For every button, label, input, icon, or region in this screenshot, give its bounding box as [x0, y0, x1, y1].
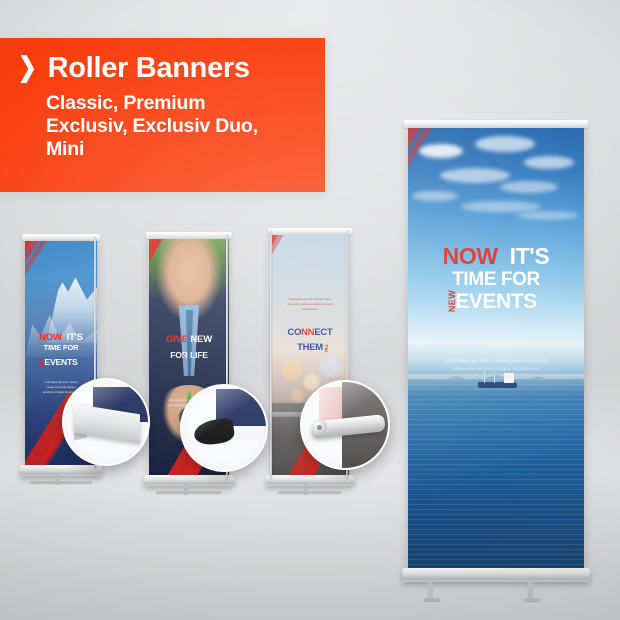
headline-word-white: IT'S	[510, 243, 550, 269]
roller-banner-large-ocean[interactable]: NOW IT'S TIME FOR NEWEVENTS modo ligula …	[404, 120, 588, 590]
cloud	[419, 144, 463, 158]
headline-word-white: NEW	[190, 334, 212, 345]
headline-line-1: CONNECT	[271, 327, 349, 337]
ocean-water	[408, 379, 584, 568]
headline-line-1: NOW IT'S	[408, 245, 584, 269]
banner-foot	[424, 598, 440, 601]
headline-red-letters: NN	[301, 326, 314, 337]
lens-content	[302, 382, 388, 468]
promo-panel[interactable]: ❯ Roller Banners Classic, Premium Exclus…	[0, 38, 325, 192]
cloud	[461, 201, 541, 212]
headline-line-2: THEM	[297, 341, 323, 352]
banner-foot-post	[304, 484, 307, 494]
headline-line-3-wrap: NEWEVENTS	[455, 290, 537, 313]
banner-foot-post	[184, 484, 187, 494]
headline-vertical-accent: ALL	[323, 343, 328, 351]
promo-subtitle-line-3: Mini	[46, 138, 315, 161]
page-title: Roller Banners	[48, 54, 250, 83]
banner-headline-bokeh: CONNECT THEMALL	[271, 327, 349, 355]
headline-word-white: IT'S	[67, 332, 83, 343]
banner-foot-post	[56, 474, 59, 484]
headline-line-3-wrap: NEWEVENTS	[44, 358, 77, 368]
promo-subtitle-line-1: Classic, Premium	[46, 92, 315, 115]
banner-body-text: modo ligula eget dolor. Aenean massa. Cu…	[287, 297, 334, 312]
lens-rubber-foot[interactable]	[180, 384, 268, 472]
product-scene: ❯ Roller Banners Classic, Premium Exclus…	[0, 0, 620, 620]
banner-foot	[30, 481, 92, 483]
lens-content	[182, 386, 266, 470]
cloud	[475, 136, 535, 152]
banner-top-cap	[404, 120, 588, 128]
banner-foot	[524, 598, 540, 601]
banner-base-rail	[402, 568, 590, 582]
headline-line-3: EVENTS	[44, 357, 77, 367]
banner-headline-large: NOW IT'S TIME FOR NEWEVENTS	[408, 245, 584, 313]
ship-hull	[478, 382, 517, 388]
cloud	[524, 156, 574, 169]
banner-body-text: modo ligula eget dolor. Aenean massa. Cu…	[436, 357, 556, 373]
bokeh-light	[282, 360, 302, 380]
promo-subtitle: Classic, Premium Exclusiv, Exclusiv Duo,…	[0, 83, 325, 161]
headline-line-2: TIME FOR	[25, 343, 97, 352]
cloud	[500, 181, 558, 193]
banner-headline-businessman: GIVE NEW FOR ALIFE	[149, 335, 229, 363]
cloud	[517, 211, 579, 220]
cloud	[412, 191, 458, 201]
pole-joint-knob	[312, 419, 327, 435]
promo-title-row: ❯ Roller Banners	[0, 38, 325, 83]
headline-line-1: GIVE NEW	[149, 335, 229, 345]
bokeh-light	[319, 355, 341, 377]
lens-pole-joint[interactable]	[300, 380, 390, 470]
banner-top-cap	[146, 232, 232, 239]
banner-artwork-ocean: NOW IT'S TIME FOR NEWEVENTS modo ligula …	[408, 128, 584, 568]
lens-content	[64, 380, 148, 464]
banner-top-cap	[268, 228, 352, 235]
banner-support-pole	[270, 231, 272, 479]
headline-line-3: EVENTS	[455, 290, 537, 313]
lens-cassette-corner[interactable]	[62, 378, 150, 466]
headline-line-2-wrap: THEMALL	[297, 342, 323, 353]
ship-mast	[494, 373, 496, 383]
banner-base-rail	[144, 475, 234, 486]
headline-vertical-accent: A	[182, 355, 187, 358]
headline-line-1: NOW IT'S	[25, 333, 97, 343]
banner-foot	[156, 491, 222, 493]
cloud	[440, 168, 510, 183]
banner-base-rail	[266, 475, 354, 486]
headline-word-red: NOW	[443, 243, 498, 269]
headline-line-2-wrap: FOR ALIFE	[170, 351, 208, 361]
banner-base-rail	[20, 465, 102, 476]
ship-superstructure	[504, 373, 514, 383]
cargo-ship	[478, 374, 517, 388]
headline-vertical-accent: NEW	[448, 290, 458, 312]
headline-line-2: TIME FOR	[408, 269, 584, 290]
chevron-right-icon: ❯	[18, 54, 37, 81]
headline-line-3: LIFE	[190, 350, 208, 360]
headline-word-red: GIVE	[166, 334, 188, 345]
headline-vertical-accent: NEW	[41, 359, 46, 368]
banner-top-cap	[22, 234, 100, 241]
headline-word-red: NOW	[39, 332, 62, 343]
banner-headline-mountain: NOW IT'S TIME FOR NEWEVENTS	[25, 333, 97, 370]
rubber-end-cap	[192, 417, 235, 446]
banner-foot	[278, 491, 342, 493]
promo-subtitle-line-2: Exclusiv, Exclusiv Duo,	[46, 115, 315, 138]
